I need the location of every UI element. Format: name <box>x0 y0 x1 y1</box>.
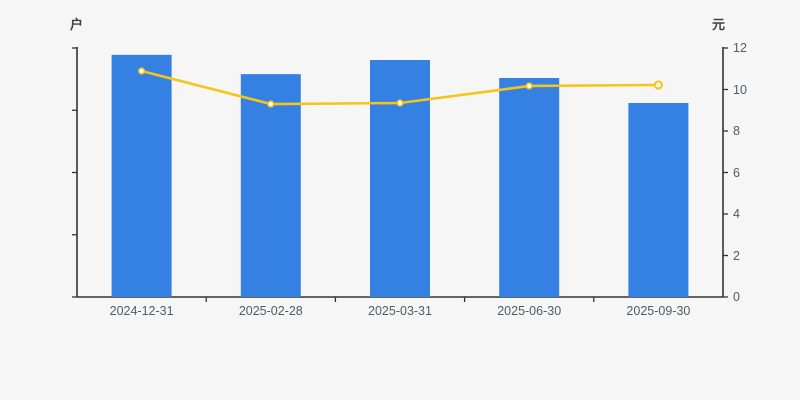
bar-series <box>112 55 689 297</box>
bar <box>112 55 172 297</box>
bar <box>628 103 688 297</box>
chart-plot-area <box>0 0 800 400</box>
line-marker <box>268 101 274 107</box>
chart-container: 户 元 010,00020,00030,00040,000 024681012 … <box>0 0 800 400</box>
line-marker <box>139 68 145 74</box>
line-marker <box>397 100 403 106</box>
bar <box>499 78 559 297</box>
line-marker <box>655 81 662 88</box>
bar <box>370 60 430 297</box>
line-marker <box>526 83 532 89</box>
